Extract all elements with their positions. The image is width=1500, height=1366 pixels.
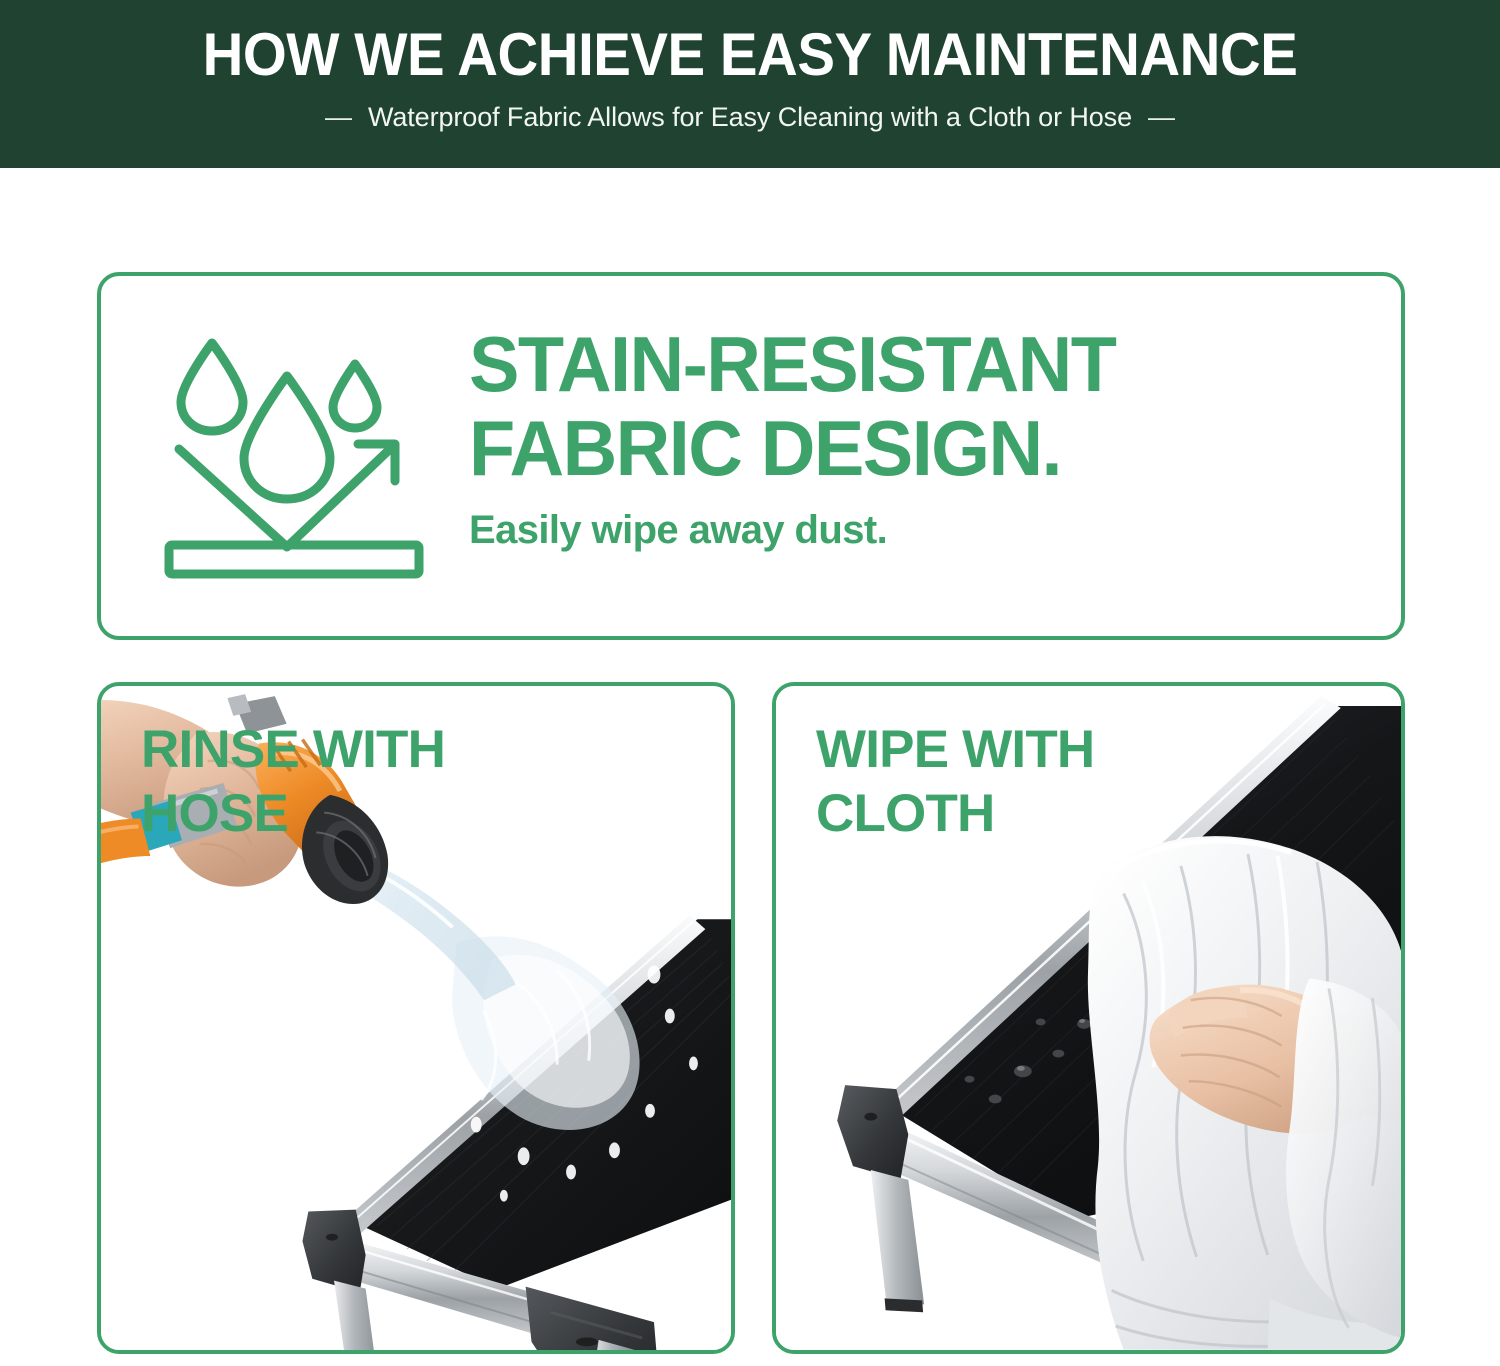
page-header: HOW WE ACHIEVE EASY MAINTENANCE — Waterp…: [0, 0, 1500, 168]
feature-headline-line1: STAIN-RESISTANT: [469, 322, 1323, 406]
feature-card-stain-resistant: STAIN-RESISTANT FABRIC DESIGN. Easily wi…: [97, 272, 1405, 640]
page-title: HOW WE ACHIEVE EASY MAINTENANCE: [45, 22, 1455, 88]
feature-subheadline: Easily wipe away dust.: [469, 506, 1349, 554]
card-wipe-with-cloth: WIPE WITH CLOTH: [772, 682, 1405, 1354]
feature-headline-line2: FABRIC DESIGN.: [469, 406, 1323, 490]
card-title-rinse-with-hose: RINSE WITH HOSE: [141, 718, 445, 846]
subtitle-dash-left: —: [325, 102, 352, 132]
page-subtitle-row: — Waterproof Fabric Allows for Easy Clea…: [0, 100, 1500, 134]
feature-text-block: STAIN-RESISTANT FABRIC DESIGN. Easily wi…: [469, 322, 1349, 554]
water-repellent-fabric-icon: [159, 331, 429, 589]
subtitle-dash-right: —: [1148, 102, 1175, 132]
card-title-wipe-with-cloth: WIPE WITH CLOTH: [816, 718, 1094, 846]
page-subtitle: Waterproof Fabric Allows for Easy Cleani…: [368, 100, 1132, 134]
card-rinse-with-hose: RINSE WITH HOSE: [97, 682, 735, 1354]
